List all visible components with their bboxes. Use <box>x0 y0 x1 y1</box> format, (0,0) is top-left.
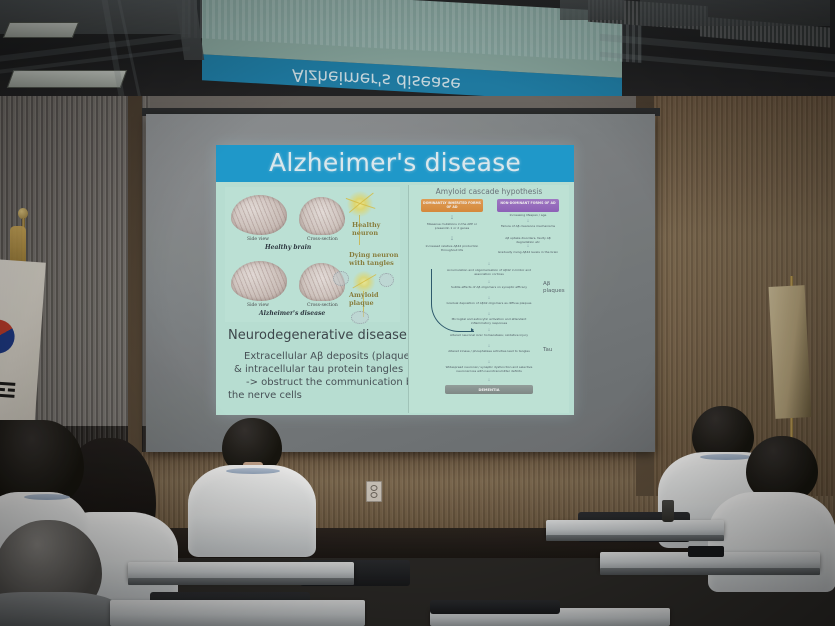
lecture-hall-photo: Alzheimer's disease Alzheimer's disease <box>0 0 835 626</box>
caption-healthy-brain: Healthy brain <box>265 244 311 251</box>
flow-arrow: ↓ <box>479 261 499 268</box>
label-side-view: Side view <box>247 237 269 242</box>
label-cross-section: Cross-section <box>307 237 338 242</box>
label-healthy-neuron: Healthy neuron <box>352 221 380 237</box>
person-shirt <box>708 492 835 592</box>
flow-arrow: ↓ <box>479 377 499 384</box>
flow-arrow: ↓ <box>442 214 462 221</box>
label-amyloid-plaque: Amyloid plaque <box>349 291 379 307</box>
flowchart-left-header: DOMINANTLY INHERITED FORMS OF AD <box>421 199 483 212</box>
flowchart-right-header: NON-DOMINANT FORMS OF AD <box>497 199 559 212</box>
flag-cloth <box>769 285 812 419</box>
label-cross-section-2: Cross-section <box>307 303 338 308</box>
slide-heading: Neurodegenerative disease <box>228 328 407 343</box>
brain-illustration: Side view Cross-section Healthy brain Si… <box>225 187 400 322</box>
flow-side-label-tau: Tau <box>543 347 552 353</box>
amyloid-plaque-icon <box>351 311 369 324</box>
amyloid-plaque-icon <box>333 271 349 286</box>
person-shirt <box>188 465 316 557</box>
shirt-collar <box>226 468 280 474</box>
power-outlet[interactable] <box>366 481 382 502</box>
shirt-collar <box>700 454 752 460</box>
water-bottle[interactable] <box>662 500 674 522</box>
chair <box>430 600 560 614</box>
flowchart-title: Amyloid cascade hypothesis <box>409 187 569 196</box>
ceiling-panel <box>640 0 830 26</box>
flowchart-final-box: DEMENTIA <box>445 385 533 394</box>
amyloid-cascade-flowchart: Amyloid cascade hypothesis DOMINANTLY IN… <box>408 185 569 413</box>
slide-body-line-1: & intracellular tau protein tangles <box>234 363 403 376</box>
flow-left-step-0: Missense mutations in the APP or preseni… <box>421 223 483 231</box>
slide-body-line-0: Extracellular Aβ deposits (plaques) <box>244 350 419 363</box>
flow-shared-step-5: Altered kinase / phosphatase activities … <box>443 350 535 354</box>
ceiling-light <box>7 70 128 88</box>
desk-edge <box>600 568 820 575</box>
desk <box>110 600 365 626</box>
ceiling-light <box>3 22 79 38</box>
alzheimer-brain-side-icon <box>231 261 287 301</box>
amyloid-plaque-icon <box>379 273 394 287</box>
shirt-collar <box>24 494 70 500</box>
flow-right-step-1: Failure of Aβ clearance mechanisms <box>497 225 559 229</box>
desk-edge <box>128 578 354 585</box>
flow-side-label-plaques: Aβ plaques <box>543 281 565 295</box>
phone-on-desk[interactable] <box>688 546 724 557</box>
flow-shared-step-6: Widespread neuronal / synaptic dysfuncti… <box>439 366 539 374</box>
ceiling-panel <box>560 0 624 20</box>
healthy-brain-cross-icon <box>299 197 345 235</box>
desk-edge <box>546 535 724 541</box>
flow-right-step-3: Gradually rising Aβ42 levels in the brai… <box>497 251 559 255</box>
flow-left-step-1: Increased relative Aβ42 production throu… <box>421 245 483 253</box>
slide-body: Side view Cross-section Healthy brain Si… <box>216 182 574 415</box>
flow-arrow: ↓ <box>442 235 462 242</box>
flow-arrow: ↓ <box>518 243 538 250</box>
slide-title: Alzheimer's disease <box>216 148 574 177</box>
slide-body-line-3: the nerve cells <box>228 389 302 402</box>
taeguk-symbol <box>0 313 21 359</box>
label-side-view-2: Side view <box>247 303 269 308</box>
projection-screen: Alzheimer's disease Side view Cross-sect… <box>146 114 655 452</box>
healthy-brain-side-icon <box>231 195 287 235</box>
caption-alzheimers-disease: Alzheimer's disease <box>259 310 325 317</box>
flow-shared-step-4: Altered neuronal ionic homeostasis; oxid… <box>443 334 535 338</box>
person-shirt <box>0 592 120 626</box>
label-dying-neuron: Dying neuron with tangles <box>349 251 399 267</box>
presentation-slide: Alzheimer's disease Side view Cross-sect… <box>216 145 574 415</box>
